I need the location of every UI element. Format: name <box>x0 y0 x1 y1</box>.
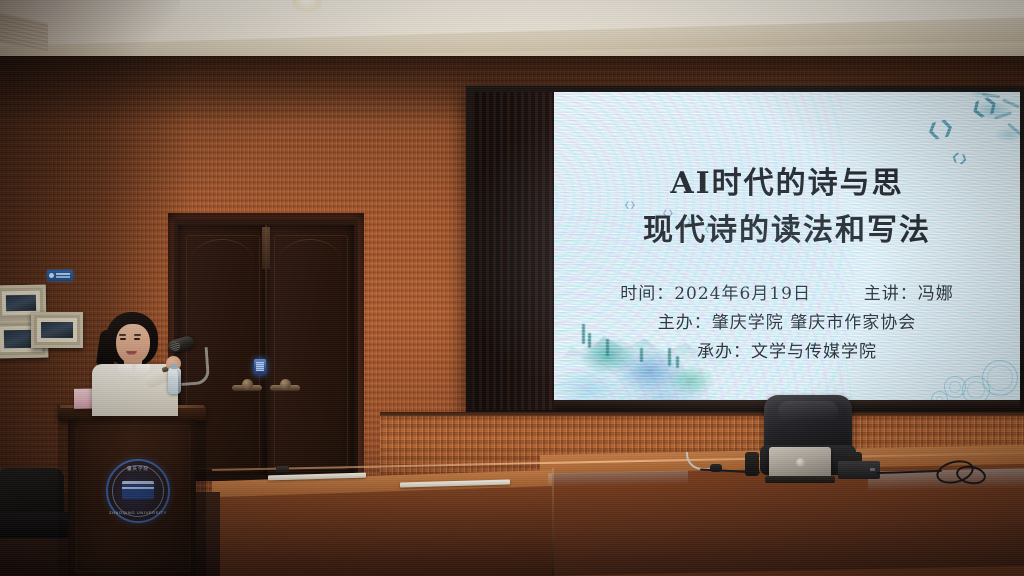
door-knob-icon[interactable] <box>280 379 291 390</box>
bottle-cap <box>171 364 178 369</box>
laptop-logo-icon <box>796 458 805 467</box>
laptop[interactable] <box>765 447 835 483</box>
slide-title-line1: AI时代的诗与思 <box>554 158 1020 202</box>
eyebrow <box>119 334 126 336</box>
picture-artwork <box>41 322 73 338</box>
emblem-en-text: ZHAOQING UNIVERSITY <box>108 510 168 515</box>
picture-artwork <box>6 295 36 312</box>
eye <box>134 338 140 340</box>
slide-meta-host: 主办：肇庆学院 肇庆市作家协会 <box>554 308 1020 333</box>
microphone-stand <box>179 347 211 386</box>
screen-unlit-panel <box>472 92 554 410</box>
laptop-lid <box>769 447 831 477</box>
university-emblem-icon: 肇庆学院 ZHAOQING UNIVERSITY <box>106 459 170 523</box>
desk-screen-reflection <box>548 471 688 488</box>
slide-meta-speaker: 主讲：冯娜 <box>864 284 954 304</box>
door-hinge-icon <box>262 227 270 269</box>
small-desk-object[interactable] <box>276 466 289 473</box>
laptop-base <box>765 476 835 483</box>
eye <box>120 338 126 340</box>
downlight-icon <box>292 0 322 12</box>
door-knob-icon[interactable] <box>242 379 253 390</box>
desk-front-left <box>212 486 552 576</box>
emblem-ring <box>112 465 164 517</box>
speaker-person <box>96 312 192 412</box>
slide-meta-time: 时间：2024年6月19日 <box>620 284 811 304</box>
wall-sign-icon <box>47 270 73 281</box>
door-handles[interactable] <box>232 377 302 403</box>
mouth <box>126 351 137 355</box>
podium: 肇庆学院 ZHAOQING UNIVERSITY <box>58 405 206 576</box>
podium-body: 肇庆学院 ZHAOQING UNIVERSITY <box>68 419 196 576</box>
water-bottle-icon[interactable] <box>168 368 181 394</box>
blue-microphone-icon[interactable] <box>254 359 266 375</box>
door-panel <box>274 235 348 469</box>
av-device-box[interactable] <box>838 461 880 479</box>
slide-meta-organizer: 承办：文学与传媒学院 <box>554 337 1020 362</box>
emblem-gate-glyph <box>122 481 154 499</box>
face <box>116 324 150 364</box>
slide-content: AI时代的诗与思 现代诗的读法和写法 时间：2024年6月19日 主讲：冯娜 主… <box>554 92 1020 400</box>
lecture-hall-photo: ❮❯ ❮❯ ❮❯ ❮❯ ❮❯ ❮❯ ❮❯ AI时代的诗与思 现代诗的读法和写法 … <box>0 0 1024 576</box>
eyebrow <box>134 334 141 336</box>
led-screen[interactable]: ❮❯ ❮❯ ❮❯ ❮❯ ❮❯ ❮❯ ❮❯ AI时代的诗与思 现代诗的读法和写法 … <box>472 92 1020 410</box>
slide-meta-row: 时间：2024年6月19日 主讲：冯娜 <box>554 279 1020 304</box>
screen-display-area[interactable]: ❮❯ ❮❯ ❮❯ ❮❯ ❮❯ ❮❯ ❮❯ AI时代的诗与思 现代诗的读法和写法 … <box>554 92 1020 400</box>
emblem-cn-text: 肇庆学院 <box>108 466 168 472</box>
slide-title-line2: 现代诗的读法和写法 <box>554 205 1020 249</box>
door-leaf-right[interactable] <box>266 225 354 475</box>
framed-picture <box>31 312 83 348</box>
